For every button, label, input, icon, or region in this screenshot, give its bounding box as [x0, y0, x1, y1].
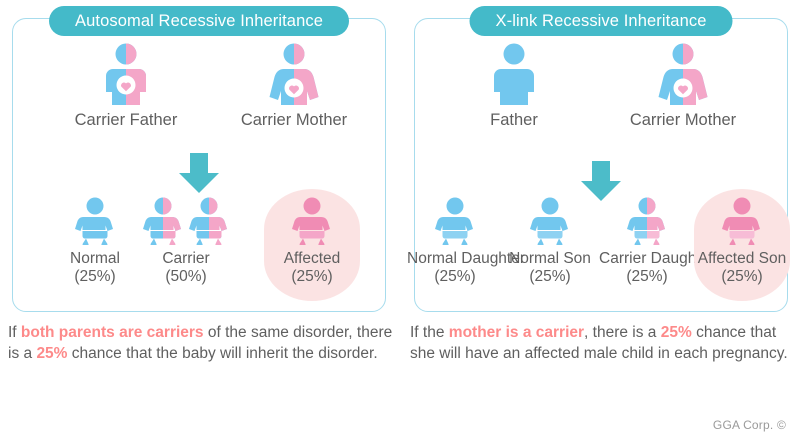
children-row-autosomal: Normal (25%) [13, 189, 385, 313]
caption-accent-text: both parents are carriers [21, 324, 204, 341]
baby-carrier-icon [138, 197, 234, 245]
caption-text: If the [410, 324, 449, 341]
child-carrier-pair: Carrier (50%) [138, 189, 234, 285]
child-label: Carrier [138, 250, 234, 268]
baby-normal-icon [502, 197, 598, 245]
baby-normal-icon [407, 197, 503, 245]
parent-carrier-mother: Carrier Mother [608, 43, 758, 130]
children-row-xlink: Normal Daughter (25%) Normal Son (25%) [415, 189, 787, 313]
child-normal: Normal (25%) [47, 189, 143, 285]
caption-autosomal: If both parents are carriers of the same… [8, 322, 396, 364]
child-percent: (25%) [264, 268, 360, 286]
child-label: Affected [264, 250, 360, 268]
caption-accent-text: 25% [661, 324, 692, 341]
child-label: Carrier Daughter [599, 250, 695, 268]
parent-label: Father [439, 111, 589, 130]
panel-title-autosomal: Autosomal Recessive Inheritance [49, 6, 349, 36]
baby-affected-icon [694, 197, 790, 245]
child-percent: (25%) [502, 268, 598, 286]
parents-row-xlink: Father Carrier Mother [415, 43, 787, 149]
caption-text: chance that the baby will inherit the di… [67, 345, 377, 362]
baby-carrier-icon [599, 197, 695, 245]
carrier-mother-icon [608, 43, 758, 105]
caption-text: , there is a [584, 324, 661, 341]
child-label: Normal [47, 250, 143, 268]
parent-label: Carrier Mother [219, 111, 369, 130]
child-label: Normal Son [502, 250, 598, 268]
child-affected-son: Affected Son (25%) [694, 189, 790, 301]
child-label: Normal Daughter [407, 250, 503, 268]
panel-autosomal-recessive: Autosomal Recessive Inheritance Carrier … [12, 18, 386, 312]
parent-label: Carrier Mother [608, 111, 758, 130]
carrier-father-icon [51, 43, 201, 105]
baby-affected-icon [264, 197, 360, 245]
caption-accent-text: mother is a carrier [449, 324, 584, 341]
child-normal-son: Normal Son (25%) [502, 189, 598, 285]
panel-xlink-recessive: X-link Recessive Inheritance Father [414, 18, 788, 312]
child-percent: (25%) [407, 268, 503, 286]
caption-accent-text: 25% [36, 345, 67, 362]
carrier-mother-icon [219, 43, 369, 105]
parent-father: Father [439, 43, 589, 130]
caption-text: If [8, 324, 21, 341]
child-carrier-daughter: Carrier Daughter (25%) [599, 189, 695, 285]
baby-normal-icon [47, 197, 143, 245]
footer-credit: GGA Corp. © [713, 418, 786, 432]
parent-label: Carrier Father [51, 111, 201, 130]
child-percent: (25%) [599, 268, 695, 286]
child-normal-daughter: Normal Daughter (25%) [407, 189, 503, 285]
child-percent: (50%) [138, 268, 234, 286]
panel-title-xlink: X-link Recessive Inheritance [470, 6, 733, 36]
child-affected: Affected (25%) [264, 189, 360, 301]
child-percent: (25%) [47, 268, 143, 286]
parent-carrier-mother: Carrier Mother [219, 43, 369, 130]
child-percent: (25%) [694, 268, 790, 286]
caption-xlink: If the mother is a carrier, there is a 2… [410, 322, 798, 364]
father-icon [439, 43, 589, 105]
parents-row-autosomal: Carrier Father Carrier Mother [13, 43, 385, 149]
child-label: Affected Son [694, 250, 790, 268]
parent-carrier-father: Carrier Father [51, 43, 201, 130]
